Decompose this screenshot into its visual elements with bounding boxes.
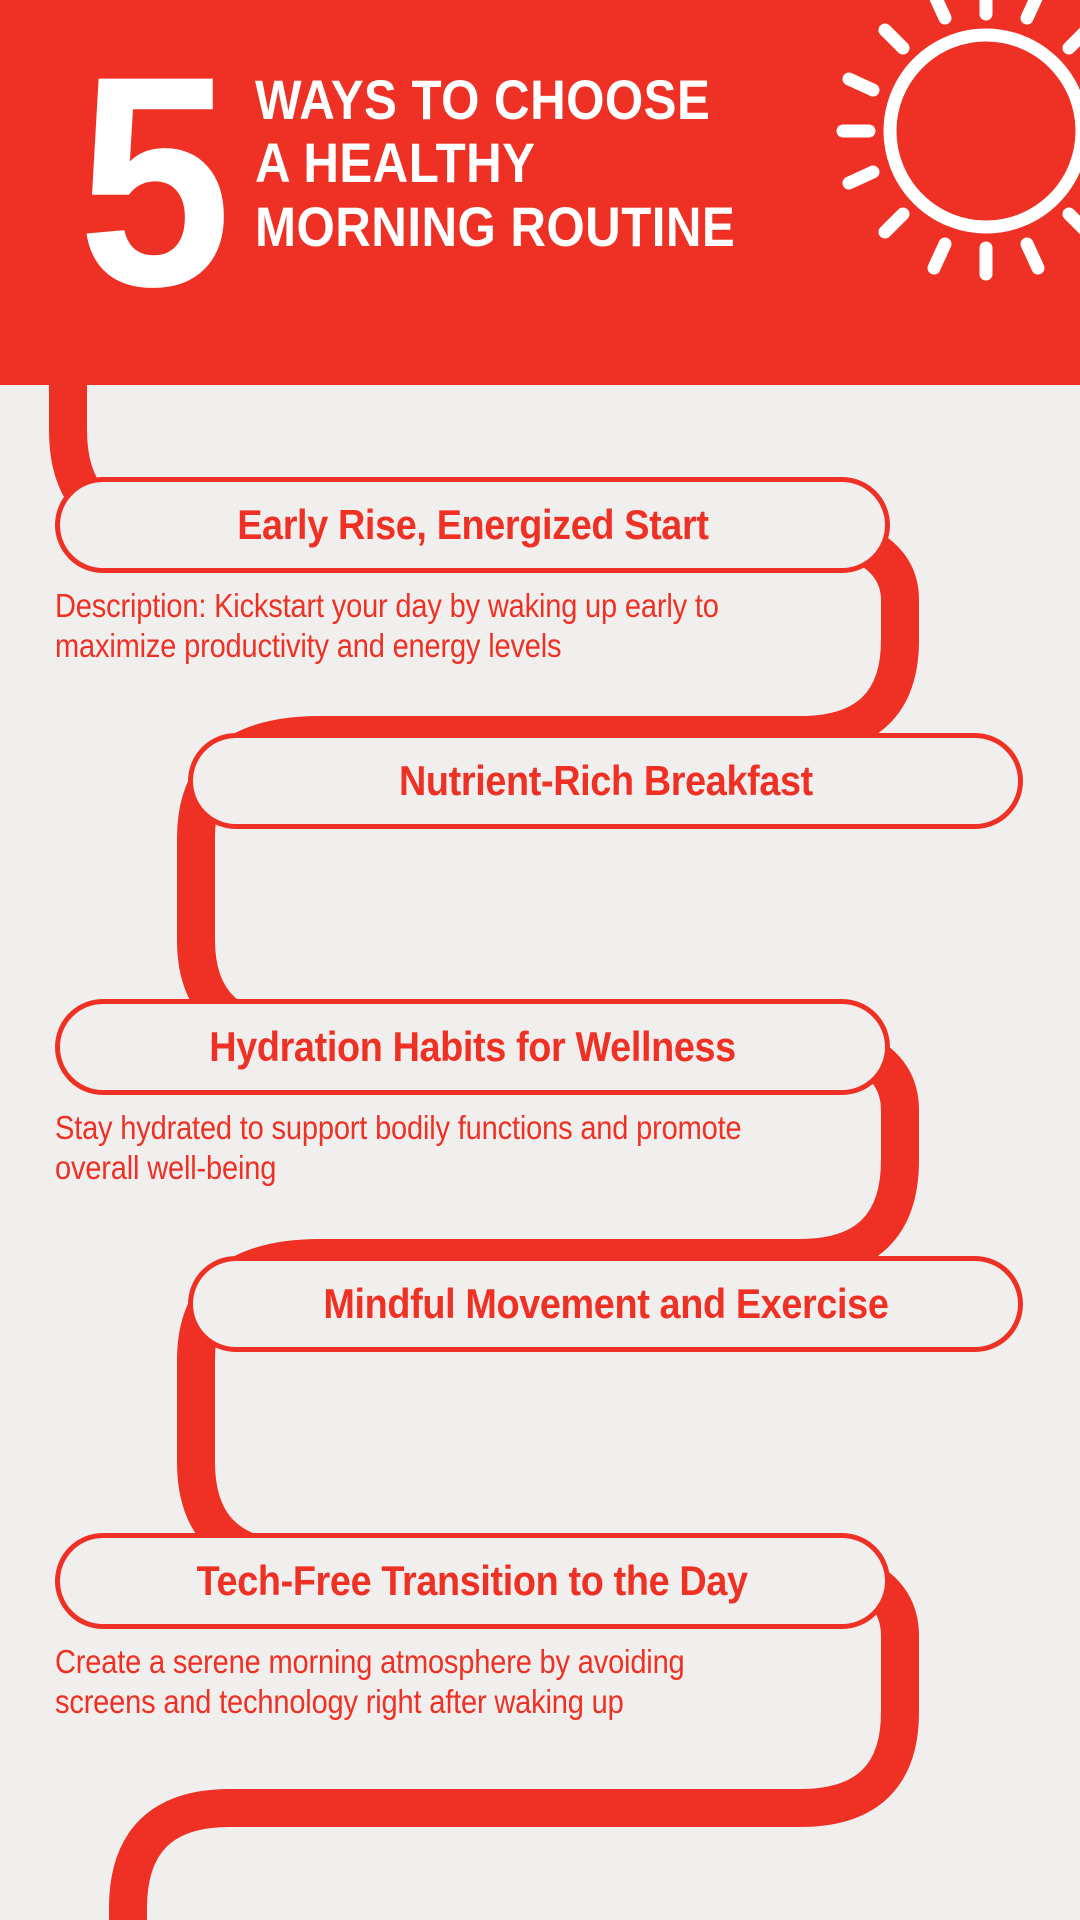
step-title: Hydration Habits for Wellness [209, 1026, 736, 1068]
header-banner: 5 WAYS TO CHOOSE A HEALTHY MORNING ROUTI… [0, 0, 1080, 385]
step-pill[interactable]: Mindful Movement and Exercise [188, 1256, 1023, 1352]
step-title: Nutrient-Rich Breakfast [399, 760, 813, 802]
sun-icon [814, 0, 1080, 296]
header-content: 5 WAYS TO CHOOSE A HEALTHY MORNING ROUTI… [78, 52, 801, 310]
infographic-poster: 5 WAYS TO CHOOSE A HEALTHY MORNING ROUTI… [0, 0, 1080, 1920]
step-pill[interactable]: Early Rise, Energized Start [55, 477, 890, 573]
step-title: Early Rise, Energized Start [237, 504, 708, 546]
step-description: Stay hydrated to support bodily function… [55, 1108, 785, 1189]
step-title: Tech-Free Transition to the Day [197, 1560, 748, 1602]
page-title-line-1: WAYS TO CHOOSE [255, 68, 735, 131]
step-title: Mindful Movement and Exercise [323, 1283, 888, 1325]
page-title: WAYS TO CHOOSE A HEALTHY MORNING ROUTINE [255, 68, 735, 258]
step-pill[interactable]: Nutrient-Rich Breakfast [188, 733, 1023, 829]
step-description: Create a serene morning atmosphere by av… [55, 1642, 785, 1723]
step-pill[interactable]: Hydration Habits for Wellness [55, 999, 890, 1095]
header-number: 5 [78, 52, 222, 310]
page-title-line-3: MORNING ROUTINE [255, 195, 735, 258]
page-title-line-2: A HEALTHY [255, 131, 735, 194]
step-pill[interactable]: Tech-Free Transition to the Day [55, 1533, 890, 1629]
step-description: Description: Kickstart your day by wakin… [55, 586, 785, 667]
